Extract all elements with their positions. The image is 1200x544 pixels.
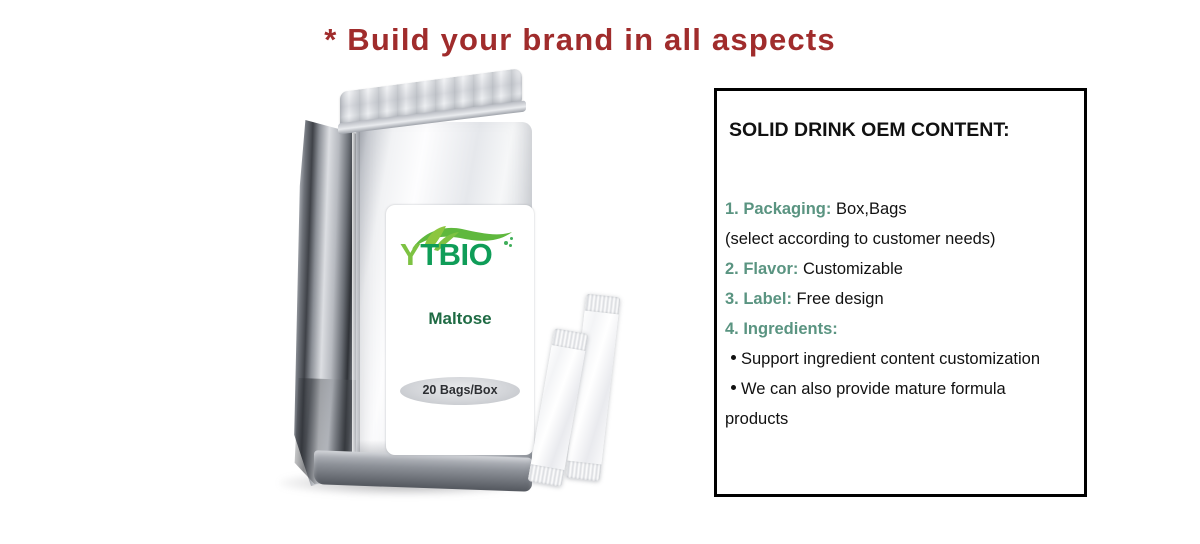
info-value-packaging-note: (select according to customer needs)	[725, 230, 996, 248]
package-label: YTBIO Maltose 20 Bags/Box	[386, 205, 534, 455]
info-label-packaging: 1. Packaging:	[725, 200, 831, 218]
info-label-label: 3. Label:	[725, 290, 792, 308]
bullet-dot-icon	[731, 385, 736, 390]
sachet-crimp-bottom	[566, 461, 602, 482]
product-name: Maltose	[386, 309, 534, 329]
marketing-banner: * Build your brand in all aspects YTBIO …	[0, 0, 1200, 544]
brand-logo-text: YTBIO	[400, 239, 492, 270]
info-line-packaging: 1. Packaging: Box,Bags	[725, 194, 1078, 224]
info-label-flavor: 2. Flavor:	[725, 260, 798, 278]
brand-logo-rest: TBIO	[420, 237, 492, 272]
info-value-label: Free design	[797, 290, 884, 308]
bullet-dot-icon	[731, 355, 736, 360]
quantity-badge-text: 20 Bags/Box	[400, 383, 520, 397]
brand-logo: YTBIO	[392, 225, 532, 279]
sachet-crimp-top	[585, 294, 621, 315]
info-bullet-2-continuation: products	[725, 404, 1078, 434]
info-line-packaging-note: (select according to customer needs)	[725, 224, 1078, 254]
info-line-ingredients: 4. Ingredients:	[725, 314, 1078, 344]
info-label-ingredients: 4. Ingredients:	[725, 320, 838, 338]
oem-content-box: SOLID DRINK OEM CONTENT: 1. Packaging: B…	[714, 88, 1087, 497]
brand-logo-y: Y	[400, 237, 420, 272]
info-line-label: 3. Label: Free design	[725, 284, 1078, 314]
trademark-dots-icon	[504, 237, 516, 249]
info-value-flavor: Customizable	[803, 260, 903, 278]
quantity-badge: 20 Bags/Box	[400, 377, 520, 405]
info-line-flavor: 2. Flavor: Customizable	[725, 254, 1078, 284]
oem-content-list: 1. Packaging: Box,Bags (select according…	[725, 194, 1078, 434]
page-title: * Build your brand in all aspects	[0, 22, 1160, 58]
package-fold-edge	[352, 122, 360, 484]
oem-content-title: SOLID DRINK OEM CONTENT:	[729, 119, 1010, 142]
product-package-image: YTBIO Maltose 20 Bags/Box	[252, 78, 552, 508]
info-value-packaging: Box,Bags	[836, 200, 907, 218]
info-bullet-text-2: We can also provide mature formula	[741, 380, 1006, 398]
info-bullet-2: We can also provide mature formula	[725, 374, 1078, 404]
info-bullet-1: Support ingredient content customization	[725, 344, 1078, 374]
info-bullet-text-1: Support ingredient content customization	[741, 350, 1040, 368]
